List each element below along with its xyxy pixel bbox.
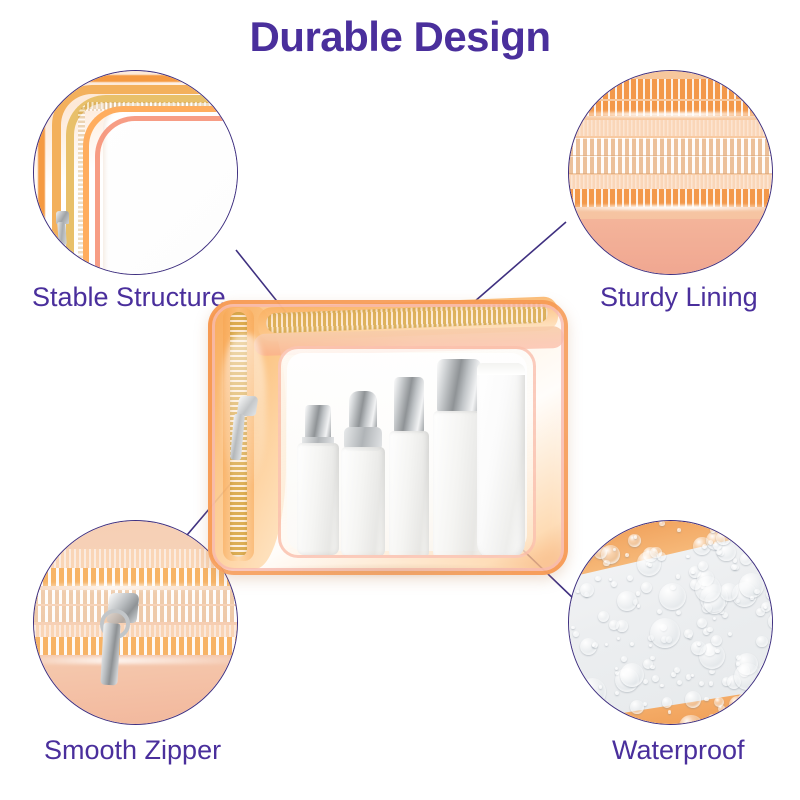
zipper-pull-tab (57, 222, 67, 246)
water-droplet (718, 705, 724, 711)
water-droplet (598, 611, 609, 622)
water-droplet (571, 626, 574, 629)
water-droplet (602, 707, 613, 718)
bag-drop-shadow (248, 563, 538, 579)
water-droplet (606, 718, 610, 722)
water-droplet (611, 581, 617, 587)
zipper-tape-top (34, 549, 237, 567)
zipper-piping (95, 116, 237, 274)
water-droplet (715, 649, 720, 654)
water-droplet (657, 609, 662, 614)
water-droplet (716, 549, 722, 555)
water-droplet (620, 663, 644, 687)
water-droplet (576, 590, 580, 594)
lining-coil-band-1 (569, 138, 772, 156)
feature-label-smooth-zipper: Smooth Zipper (44, 737, 221, 764)
water-droplet (630, 642, 634, 646)
feature-circle-sturdy-lining[interactable] (568, 70, 773, 275)
bag-gloss-highlight (222, 334, 266, 484)
feature-circle-waterproof[interactable] (568, 520, 773, 725)
water-droplet (729, 696, 747, 714)
feature-circle-stable-structure[interactable] (33, 70, 238, 275)
water-droplet (652, 675, 659, 682)
water-droplet (756, 608, 764, 616)
water-droplet (756, 636, 767, 647)
product-image-toiletry-bag[interactable] (208, 300, 568, 575)
waterproof-photo (569, 521, 772, 724)
water-droplet (659, 521, 664, 526)
water-droplet (708, 714, 717, 723)
lining-smooth-base (569, 219, 772, 274)
water-droplet (605, 643, 608, 646)
water-droplet (702, 544, 707, 549)
water-droplet (668, 710, 672, 714)
water-droplet (710, 527, 716, 533)
water-droplet (630, 700, 644, 714)
smooth-zipper-photo (34, 521, 237, 724)
water-droplet (648, 563, 651, 566)
water-droplet (707, 627, 712, 632)
water-droplet (599, 685, 602, 688)
lining-highlight-2 (569, 205, 772, 210)
water-droplet (750, 596, 754, 600)
stable-structure-photo (34, 71, 237, 274)
water-droplet (609, 620, 619, 630)
water-droplet (677, 528, 681, 532)
zipper-pull-icon (55, 211, 70, 245)
water-droplet (676, 610, 681, 615)
water-droplet (636, 591, 641, 596)
water-droplet (676, 574, 681, 579)
water-droplet (573, 631, 579, 637)
water-droplet (595, 576, 601, 582)
water-droplet (684, 629, 693, 638)
lining-highlight-1 (569, 112, 772, 117)
water-droplet (660, 684, 663, 687)
lining-coil-band-2 (569, 156, 772, 174)
water-droplet (685, 691, 701, 707)
connector-sturdy-lining (474, 222, 566, 302)
water-droplet (671, 672, 675, 676)
water-droplet (662, 697, 673, 708)
water-droplet (739, 573, 764, 598)
water-droplet (766, 588, 772, 600)
water-droplet (650, 665, 655, 670)
water-droplet (698, 561, 708, 571)
lining-band-1 (569, 79, 772, 99)
lining-band-4 (569, 175, 772, 189)
feature-label-stable-structure: Stable Structure (32, 284, 226, 311)
water-droplet (621, 656, 627, 662)
water-droplet (709, 681, 713, 685)
water-droplet (695, 576, 721, 602)
water-droplet (643, 679, 648, 684)
lining-band-3 (569, 120, 772, 136)
water-droplet (603, 560, 609, 566)
sturdy-lining-photo (569, 71, 772, 274)
water-droplet (728, 526, 734, 532)
water-droplet (691, 674, 694, 677)
water-droplet (734, 663, 761, 690)
water-droplet (634, 535, 638, 539)
water-droplet (697, 618, 707, 628)
water-droplet (731, 564, 737, 570)
zipper-slider-icon (96, 593, 146, 695)
water-droplet (657, 552, 666, 561)
water-droplet (577, 529, 602, 554)
water-droplet (697, 642, 701, 646)
water-droplet (728, 705, 732, 709)
zipper-pull-tab (100, 623, 120, 686)
feature-label-waterproof: Waterproof (612, 737, 745, 764)
water-droplet (617, 591, 637, 611)
feature-label-sturdy-lining: Sturdy Lining (600, 284, 758, 311)
